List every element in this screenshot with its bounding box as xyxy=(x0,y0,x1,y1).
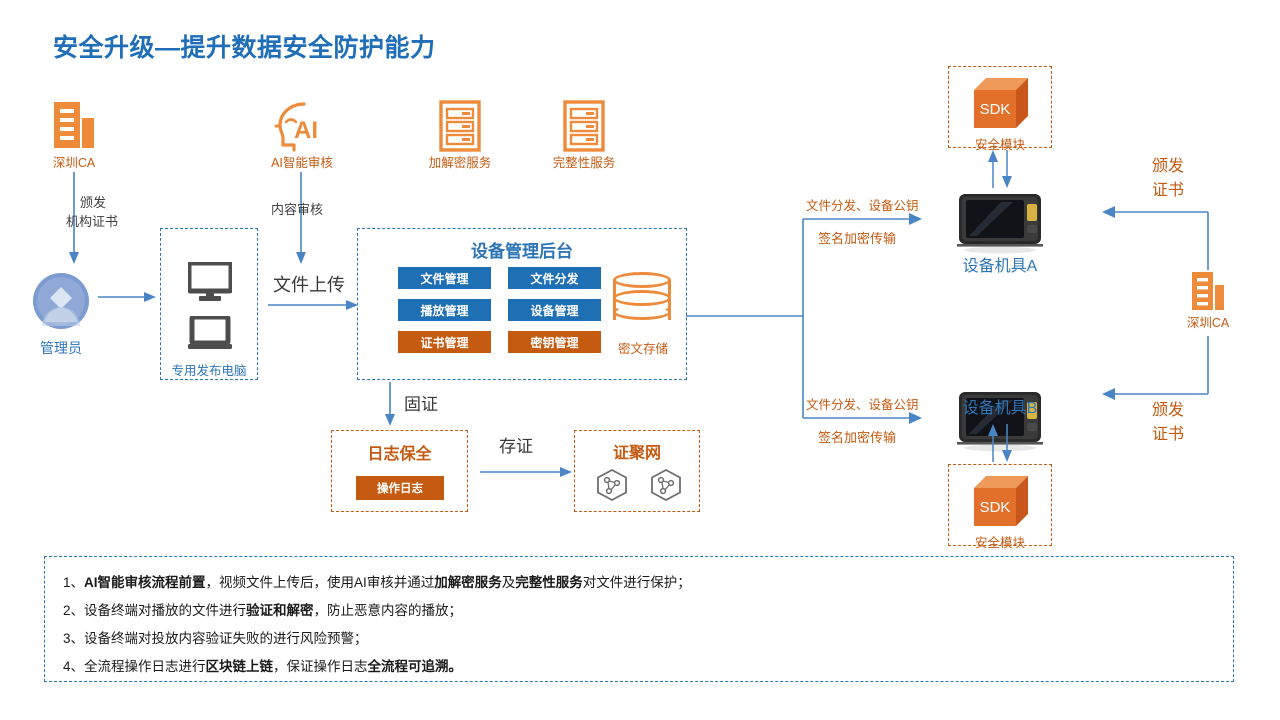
ca-right-icon xyxy=(1186,270,1230,317)
svg-text:SDK: SDK xyxy=(980,499,1011,516)
notes-box: 1、AI智能审核流程前置，视频文件上传后，使用AI审核并通过加解密服务及完整性服… xyxy=(44,556,1234,682)
monitor-icon xyxy=(188,262,232,307)
backend-btn-cert-manage[interactable]: 证书管理 xyxy=(398,331,491,353)
dist-bottom-label-line2: 签名加密传输 xyxy=(818,427,896,446)
ai-audit-icon: AI xyxy=(274,100,328,157)
sdk-caption-b: 安全模块 xyxy=(948,532,1052,551)
arrow-admin-to-pc xyxy=(98,289,158,305)
note-index-3: 3、 xyxy=(63,631,84,646)
arrow-ca-to-device-b xyxy=(1100,336,1220,402)
dist-bottom-label-line1: 文件分发、设备公钥 xyxy=(806,394,919,413)
ca-right-issue-top-line1: 颁发 xyxy=(1152,152,1184,176)
ca-left-icon xyxy=(46,100,102,155)
note-line-1: 1、AI智能审核流程前置，视频文件上传后，使用AI审核并通过加解密服务及完整性服… xyxy=(63,569,1215,597)
integrity-service-icon xyxy=(563,100,605,157)
publishing-pc-label: 专用发布电脑 xyxy=(160,360,258,379)
ca-left-label: 深圳CA xyxy=(28,152,120,171)
log-preservation-title: 日志保全 xyxy=(331,440,468,464)
arrow-ai-to-pipeline xyxy=(293,172,309,268)
fix-evidence-label: 固证 xyxy=(404,390,438,415)
crypto-service-icon xyxy=(439,100,481,157)
laptop-icon xyxy=(188,316,232,357)
dist-top-label-line1: 文件分发、设备公钥 xyxy=(806,195,919,214)
integrity-service-label: 完整性服务 xyxy=(532,152,636,171)
note-index-1: 1、 xyxy=(63,575,84,590)
crypto-service-label: 加解密服务 xyxy=(408,152,512,171)
note-line-3: 3、设备终端对投放内容验证失败的进行风险预警； xyxy=(63,625,1215,653)
blockchain-node-icon-2 xyxy=(650,468,682,507)
ca-right-issue-bottom-line1: 颁发 xyxy=(1152,396,1184,420)
note-index-2: 2、 xyxy=(63,603,84,618)
ca-right-issue-top-line2: 证书 xyxy=(1152,176,1184,200)
note-line-4: 4、全流程操作日志进行区块链上链，保证操作日志全流程可追溯。 xyxy=(63,653,1215,681)
device-a-label: 设备机具A xyxy=(930,252,1070,276)
arrow-pc-to-backend xyxy=(268,297,360,313)
arrow-backend-to-log xyxy=(382,382,398,430)
backend-btn-key-manage[interactable]: 密钥管理 xyxy=(508,331,601,353)
backend-btn-file-manage[interactable]: 文件管理 xyxy=(398,267,491,289)
blockchain-title: 证聚网 xyxy=(574,439,700,463)
sdk-cube-icon-b: SDK xyxy=(968,474,1034,535)
sdk-cube-icon-a: SDK xyxy=(968,76,1034,137)
device-b-label: 设备机具B xyxy=(930,394,1070,418)
diagram-canvas: 安全升级—提升数据安全防护能力 深圳CA 颁发 机构证书 管理员 xyxy=(0,0,1280,720)
avatar xyxy=(32,272,90,335)
store-evidence-label: 存证 xyxy=(499,432,533,457)
ca-issue-label-line2: 机构证书 xyxy=(66,211,118,230)
database-icon xyxy=(613,272,671,334)
ca-right-issue-bottom-line2: 证书 xyxy=(1152,420,1184,444)
page-title: 安全升级—提升数据安全防护能力 xyxy=(53,28,436,64)
note-line-2: 2、设备终端对播放的文件进行验证和解密，防止恶意内容的播放； xyxy=(63,597,1215,625)
arrow-ca-to-device-a xyxy=(1100,206,1220,272)
ca-right-label: 深圳CA xyxy=(1164,312,1252,331)
storage-label: 密文存储 xyxy=(600,338,686,357)
arrow-sdk-device-a xyxy=(986,150,1016,190)
file-upload-label: 文件上传 xyxy=(273,271,345,297)
ca-issue-label-line1: 颁发 xyxy=(80,192,106,211)
backend-title: 设备管理后台 xyxy=(358,237,686,262)
svg-text:SDK: SDK xyxy=(980,101,1011,118)
arrow-log-to-chain xyxy=(480,464,574,480)
blockchain-node-icon-1 xyxy=(596,468,628,507)
note-body-2: 设备终端对播放的文件进行验证和解密，防止恶意内容的播放； xyxy=(84,603,462,618)
backend-btn-device-manage[interactable]: 设备管理 xyxy=(508,299,601,321)
ai-audit-label: AI智能审核 xyxy=(252,152,352,171)
admin-label: 管理员 xyxy=(20,338,102,358)
device-tablet-a xyxy=(957,192,1035,248)
dist-top-label-line2: 签名加密传输 xyxy=(818,228,896,247)
svg-text:AI: AI xyxy=(294,117,318,144)
backend-btn-play-manage[interactable]: 播放管理 xyxy=(398,299,491,321)
note-index-4: 4、 xyxy=(63,659,84,674)
arrow-sdk-device-b xyxy=(986,424,1016,464)
note-body-4: 全流程操作日志进行区块链上链，保证操作日志全流程可追溯。 xyxy=(84,659,462,674)
note-body-1: AI智能审核流程前置，视频文件上传后，使用AI审核并通过加解密服务及完整性服务对… xyxy=(84,575,691,590)
note-body-3: 设备终端对投放内容验证失败的进行风险预警； xyxy=(84,631,368,646)
backend-btn-file-distribute[interactable]: 文件分发 xyxy=(508,267,601,289)
content-audit-label: 内容审核 xyxy=(271,199,323,218)
operation-log-chip[interactable]: 操作日志 xyxy=(356,476,444,500)
